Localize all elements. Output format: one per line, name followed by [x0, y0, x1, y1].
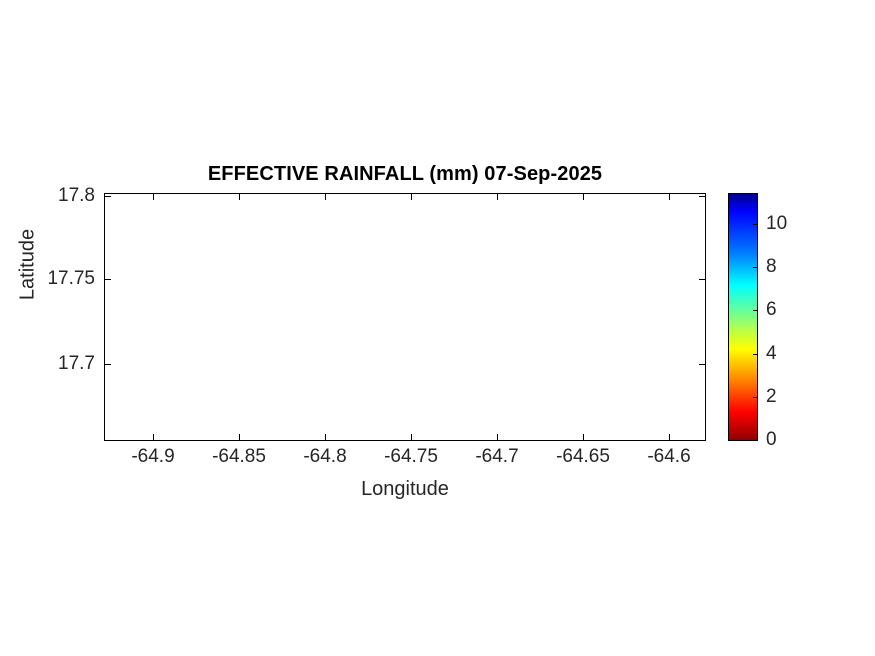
xtick-label: -64.8 [275, 446, 375, 468]
colorbar-tick [753, 224, 758, 225]
colorbar-label: 4 [766, 343, 777, 365]
xtick-mark [669, 193, 670, 200]
ytick-mark [104, 196, 111, 197]
ytick-mark [104, 364, 111, 365]
xtick-mark [669, 434, 670, 441]
xtick-mark [411, 193, 412, 200]
x-axis-label: Longitude [104, 478, 706, 501]
ytick-label: 17.8 [0, 185, 95, 207]
page-title: EFFECTIVE RAINFALL (mm) 07-Sep-2025 [104, 163, 706, 186]
xtick-mark [239, 193, 240, 200]
y-axis-label: Latitude [17, 200, 40, 330]
colorbar-tick [753, 354, 758, 355]
colorbar-label: 8 [766, 256, 777, 278]
ytick-mark [699, 364, 706, 365]
xtick-label: -64.65 [533, 446, 633, 468]
xtick-label: -64.85 [189, 446, 289, 468]
xtick-label: -64.6 [619, 446, 719, 468]
xtick-mark [411, 434, 412, 441]
ytick-label: 17.7 [0, 353, 95, 375]
ytick-label: 17.75 [0, 268, 95, 290]
colorbar-tick [753, 397, 758, 398]
xtick-mark [497, 193, 498, 200]
xtick-label: -64.9 [103, 446, 203, 468]
colorbar-tick [753, 267, 758, 268]
colorbar-label: 10 [766, 213, 787, 235]
ytick-mark [699, 279, 706, 280]
colorbar-label: 2 [766, 386, 777, 408]
axes-frame [104, 193, 706, 441]
xtick-mark [497, 434, 498, 441]
xtick-mark [239, 434, 240, 441]
xtick-mark [325, 193, 326, 200]
figure-canvas: EFFECTIVE RAINFALL (mm) 07-Sep-2025 [0, 0, 875, 656]
xtick-mark [583, 193, 584, 200]
xtick-mark [583, 434, 584, 441]
xtick-mark [153, 434, 154, 441]
ytick-mark [699, 196, 706, 197]
xtick-label: -64.75 [361, 446, 461, 468]
ytick-mark [104, 279, 111, 280]
colorbar-tick [753, 310, 758, 311]
colorbar-label: 0 [766, 429, 777, 451]
colorbar [728, 193, 758, 441]
xtick-mark [153, 193, 154, 200]
xtick-mark [325, 434, 326, 441]
colorbar-tick [753, 440, 758, 441]
colorbar-label: 6 [766, 299, 777, 321]
xtick-label: -64.7 [447, 446, 547, 468]
